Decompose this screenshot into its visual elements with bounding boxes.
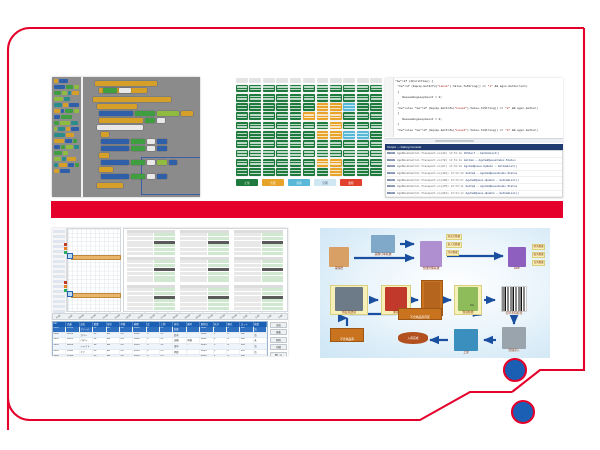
planning-data-value: [154, 288, 175, 291]
status-grid-cell[interactable]: [276, 78, 288, 83]
planning-data-value: [154, 244, 175, 247]
status-grid-cell[interactable]: [330, 131, 342, 139]
palette-chip: [54, 91, 61, 95]
palette-block[interactable]: [54, 145, 79, 149]
status-grid-cell[interactable]: [236, 150, 248, 158]
flow-node-complete[interactable]: 入库完成: [398, 332, 428, 344]
status-grid-cell[interactable]: [343, 78, 355, 83]
status-grid-cell[interactable]: [317, 78, 329, 83]
log-message: OnStart → GetCmdList(): [464, 152, 499, 155]
planning-data-value: [262, 276, 283, 279]
planning-row-header[interactable]: [53, 295, 65, 298]
status-grid-cell[interactable]: [357, 150, 369, 158]
status-grid-cell[interactable]: [290, 78, 302, 83]
flow-node-buyer[interactable]: 采购员: [326, 246, 352, 270]
planning-row-header[interactable]: [53, 305, 65, 308]
planning-data-key: [234, 237, 261, 240]
status-grid-cell[interactable]: [276, 94, 288, 102]
status-grid-cell[interactable]: [330, 150, 342, 158]
code-block[interactable]: [119, 88, 131, 93]
planning-board-panel[interactable]: 8:009:0010:0011:0012:0013:0014:0015:0016…: [52, 228, 288, 356]
status-grid-cell[interactable]: [249, 103, 261, 111]
log-row[interactable]: DEBUGAgvMoveControl.Transport.cs(78)13:5…: [386, 158, 562, 165]
status-grid-cell[interactable]: [330, 94, 342, 102]
code-block[interactable]: [169, 160, 177, 165]
code-block[interactable]: [99, 167, 113, 172]
code-block[interactable]: [147, 160, 155, 165]
status-grid-cell[interactable]: [276, 150, 288, 158]
code-editor[interactable]: "kw">if (bFirstTime) {"kw">if (Equip.Get…: [385, 78, 563, 137]
planning-data-grid[interactable]: [123, 228, 288, 312]
status-grid-cell[interactable]: [370, 103, 382, 111]
palette-block[interactable]: [54, 127, 79, 131]
status-grid-cell[interactable]: [263, 159, 275, 167]
palette-chip: [71, 121, 78, 125]
status-grid-cell[interactable]: [276, 159, 288, 167]
status-grid-cell[interactable]: [276, 122, 288, 130]
flow-node-shelving[interactable]: 上架: [450, 328, 482, 354]
gantt-status-dot: [64, 251, 67, 254]
flow-node-wms[interactable]: 仓储管理系统: [417, 240, 445, 270]
code-block[interactable]: [131, 174, 145, 179]
planning-data-row: [180, 299, 229, 302]
gantt-status-dot: [64, 285, 67, 288]
status-grid-cell[interactable]: [370, 131, 382, 139]
gantt-bar[interactable]: [71, 293, 121, 298]
status-grid-cell[interactable]: [249, 112, 261, 120]
code-block[interactable]: [157, 111, 179, 116]
code-block[interactable]: [99, 118, 143, 123]
palette-chip: [66, 85, 74, 89]
status-grid-cell[interactable]: [249, 78, 261, 83]
table-side-buttons[interactable]: 追加編集削除印刷閉じる: [269, 321, 288, 356]
planning-data-value: [262, 268, 283, 271]
table-cell: L04: [240, 344, 253, 349]
gantt-chart[interactable]: [67, 228, 121, 312]
planning-data-value: [208, 279, 229, 282]
log-row[interactable]: DEBUGAgvMoveControl.Transport.cs(233)13:…: [386, 197, 562, 198]
status-grid-cell[interactable]: [357, 112, 369, 120]
planning-data-value: [262, 292, 283, 295]
flow-node-inspection[interactable]: 到货检验: [454, 285, 482, 315]
planning-data-value: [208, 307, 229, 310]
table-cell: P2: [160, 338, 173, 343]
status-grid-cell[interactable]: [330, 78, 342, 83]
status-grid-cell[interactable]: [370, 94, 382, 102]
status-grid-cell[interactable]: [317, 112, 329, 120]
palette-block[interactable]: [54, 91, 79, 95]
status-grid-cell[interactable]: [357, 94, 369, 102]
code-block[interactable]: [99, 153, 109, 158]
status-grid-cell[interactable]: [249, 94, 261, 102]
code-block[interactable]: [93, 97, 171, 102]
status-grid-cell[interactable]: [370, 140, 382, 148]
status-grid-cell[interactable]: [343, 122, 355, 130]
status-grid-cell[interactable]: [357, 122, 369, 130]
code-block[interactable]: [97, 183, 123, 188]
palette-block[interactable]: [54, 163, 79, 167]
axis-tick: 21:00: [205, 312, 216, 321]
status-grid-cell[interactable]: [276, 103, 288, 111]
palette-chip: [74, 145, 79, 149]
code-block[interactable]: [157, 160, 167, 165]
status-grid-cell[interactable]: [303, 112, 315, 120]
status-grid-cell[interactable]: [236, 131, 248, 139]
flow-node-label: 打印条码标签: [506, 312, 523, 315]
status-grid-cell[interactable]: [317, 131, 329, 139]
blocks-canvas[interactable]: [83, 77, 200, 197]
planning-data-value: [262, 241, 283, 244]
log-level: DEBUG: [387, 179, 395, 182]
gantt-bar[interactable]: [71, 255, 121, 260]
status-grid-cell[interactable]: [317, 150, 329, 158]
table-action-button[interactable]: 閉じる: [270, 352, 287, 356]
code-block[interactable]: [101, 139, 129, 144]
person-icon: [329, 247, 349, 267]
order-table[interactable]: No品番品名数量単位状態納期戻工程担当備考更新日区分優先ロット検査 0001A-…: [52, 321, 268, 356]
status-grid-cell[interactable]: [370, 122, 382, 130]
status-grid-cell[interactable]: [290, 85, 302, 93]
table-cell: 0: [147, 344, 160, 349]
status-grid-cell[interactable]: [343, 103, 355, 111]
status-grid-cell[interactable]: [303, 85, 315, 93]
status-grid-cell[interactable]: [236, 168, 248, 176]
status-grid-cell[interactable]: [303, 103, 315, 111]
table-action-button[interactable]: 編集: [270, 329, 287, 335]
planning-data-value: [208, 268, 229, 271]
planning-data-value: [208, 248, 229, 251]
status-grid-cell[interactable]: [263, 78, 275, 83]
table-cell: B: [227, 338, 240, 343]
code-block[interactable]: [99, 111, 133, 116]
table-cell: 2: [214, 355, 227, 356]
status-grid-cell[interactable]: [357, 140, 369, 148]
code-block[interactable]: [101, 146, 129, 151]
status-grid-cell[interactable]: [317, 94, 329, 102]
status-grid-cell[interactable]: [357, 168, 369, 176]
planning-data-key: [234, 292, 261, 295]
order-table-body[interactable]: 0001A-101フレーム50EAOK10/010P1佐藤-10/011AL01…: [53, 327, 267, 356]
planning-row-headers[interactable]: [52, 228, 67, 312]
table-action-button[interactable]: 削除: [270, 337, 287, 343]
code-block[interactable]: [157, 174, 167, 179]
log-row[interactable]: DEBUGAgvMoveControl.Transport.cs(87)13:5…: [386, 164, 562, 171]
status-grid-cell[interactable]: [343, 168, 355, 176]
log-row[interactable]: DEBUGAgvMoveControl.Transport.cs(121)13:…: [386, 171, 562, 178]
axis-tick: 9:00: [65, 312, 76, 321]
table-cell: 田中: [173, 344, 186, 349]
code-block[interactable]: [157, 146, 167, 151]
planning-row-header[interactable]: [53, 260, 65, 263]
planning-data-row: [180, 241, 229, 244]
code-line: "kw">else "kw">if (Equip.GetInfo("Lane3"…: [397, 130, 538, 133]
status-grid-cell[interactable]: [249, 140, 261, 148]
code-block[interactable]: [101, 132, 109, 137]
table-row[interactable]: 0006C-302ベアリング45EAOK10/050P3渡辺-10/052CL0…: [53, 355, 267, 356]
status-grid-cell[interactable]: [370, 85, 382, 93]
flow-node-scan-entry[interactable]: 扫描录入: [498, 326, 530, 352]
status-grid-cell[interactable]: [263, 112, 275, 120]
table-cell: EA: [107, 338, 120, 343]
status-grid-cell[interactable]: [263, 103, 275, 111]
status-grid-cell[interactable]: [263, 150, 275, 158]
status-grid-cell[interactable]: [290, 103, 302, 111]
gantt-milestone-marker[interactable]: [67, 253, 73, 259]
planning-data-row: [234, 252, 283, 255]
gantt-milestone-marker[interactable]: [67, 291, 73, 297]
planning-data-row: [234, 303, 283, 306]
status-grid-cell[interactable]: [249, 159, 261, 167]
status-grid-cell[interactable]: [343, 150, 355, 158]
planning-data-key: [180, 233, 207, 236]
status-grid-cell[interactable]: [317, 159, 329, 167]
status-grid-cell[interactable]: [290, 159, 302, 167]
table-cell: B-202: [66, 344, 79, 349]
status-grid-cell[interactable]: [303, 94, 315, 102]
status-grid-cell[interactable]: [330, 159, 342, 167]
status-grid-cells[interactable]: [236, 78, 382, 176]
code-block[interactable]: [135, 111, 155, 116]
table-action-button[interactable]: 追加: [270, 322, 287, 328]
status-grid-cell[interactable]: [236, 85, 248, 93]
status-grid-cell[interactable]: [290, 112, 302, 120]
code-block[interactable]: [131, 146, 145, 151]
status-grid-cell[interactable]: [290, 122, 302, 130]
status-grid-cell[interactable]: [236, 103, 248, 111]
palette-block[interactable]: [54, 85, 79, 89]
status-grid-cell[interactable]: [303, 131, 315, 139]
red-divider-bar: [51, 201, 563, 218]
status-grid-cell[interactable]: [290, 94, 302, 102]
status-grid-cell[interactable]: [263, 122, 275, 130]
code-block[interactable]: [101, 160, 129, 165]
palette-chip: [54, 85, 65, 89]
planning-data-value: [154, 233, 175, 236]
planning-data-key: [127, 303, 154, 306]
planning-row-header[interactable]: [53, 235, 65, 238]
planning-row-header[interactable]: [53, 270, 65, 273]
planning-data-key: [180, 296, 207, 299]
status-grid-cell[interactable]: [263, 85, 275, 93]
status-grid-cell[interactable]: [330, 168, 342, 176]
planning-data-key: [127, 307, 154, 310]
status-grid-cell[interactable]: [236, 112, 248, 120]
code-block[interactable]: [145, 118, 155, 123]
code-block[interactable]: [181, 111, 193, 116]
status-grid-cell[interactable]: [303, 122, 315, 130]
code-block[interactable]: [97, 125, 143, 130]
planning-data-value: [154, 296, 175, 299]
code-block[interactable]: [95, 81, 157, 86]
palette-block[interactable]: [54, 151, 79, 155]
flow-node-supplier-truck[interactable]: 供应商送货: [330, 285, 368, 315]
status-grid-cell[interactable]: [370, 168, 382, 176]
status-grid-cell[interactable]: [330, 112, 342, 120]
status-grid-cell[interactable]: [343, 94, 355, 102]
status-grid-cell[interactable]: [357, 131, 369, 139]
palette-block[interactable]: [54, 169, 79, 173]
status-grid-cell[interactable]: [357, 85, 369, 93]
code-block[interactable]: [157, 139, 167, 144]
log-row[interactable]: DEBUGAgvMoveControl.Transport.cs(175)13:…: [386, 184, 562, 191]
scrollbar-thumb[interactable]: [435, 140, 474, 143]
status-grid-cell[interactable]: [290, 140, 302, 148]
status-grid-cell[interactable]: [303, 78, 315, 83]
planning-row-header[interactable]: [53, 255, 65, 258]
status-grid-cell[interactable]: [357, 78, 369, 83]
palette-block[interactable]: [54, 103, 79, 107]
planning-data-value: [208, 303, 229, 306]
flow-node-order-system[interactable]: 采购订单系统: [368, 234, 398, 256]
status-grid-cell[interactable]: [370, 159, 382, 167]
palette-block[interactable]: [54, 79, 79, 83]
log-row[interactable]: DEBUGAgvMoveControl.Transport.cs(212)13:…: [386, 191, 562, 198]
flow-node-reject-store[interactable]: 不合格品库: [330, 328, 364, 342]
status-grid-cell[interactable]: [357, 103, 369, 111]
status-grid-cell[interactable]: [249, 85, 261, 93]
palette-block[interactable]: [54, 109, 79, 113]
palette-block[interactable]: [54, 115, 79, 119]
code-block[interactable]: [101, 174, 129, 179]
status-grid-cell[interactable]: [263, 94, 275, 102]
planning-data-value: [262, 244, 283, 247]
code-block[interactable]: [147, 174, 155, 179]
palette-block[interactable]: [54, 97, 79, 101]
status-grid-cell[interactable]: [317, 122, 329, 130]
status-grid-cell[interactable]: [317, 168, 329, 176]
status-grid-cell[interactable]: [276, 140, 288, 148]
status-grid-cell[interactable]: [303, 168, 315, 176]
palette-block[interactable]: [54, 139, 79, 143]
status-grid-cell[interactable]: [317, 140, 329, 148]
planning-data-key: [234, 252, 261, 255]
status-grid-cell[interactable]: [303, 150, 315, 158]
planning-data-key: [127, 252, 154, 255]
table-cell: 20: [93, 344, 106, 349]
planning-data-row: [234, 299, 283, 302]
code-block[interactable]: [131, 139, 145, 144]
flow-node-reject-area[interactable]: 不合格品暂存区: [398, 308, 442, 320]
status-grid-cell[interactable]: [236, 78, 248, 83]
status-grid-cell[interactable]: [343, 159, 355, 167]
status-grid-cell[interactable]: [317, 85, 329, 93]
palette-chip: [58, 127, 65, 131]
planning-data-key: [180, 288, 207, 291]
table-cell: 80: [93, 338, 106, 343]
palette-block[interactable]: [54, 157, 79, 161]
table-cell: 0001: [53, 327, 66, 332]
status-grid-cell[interactable]: [370, 78, 382, 83]
code-block[interactable]: [97, 104, 137, 109]
code-block[interactable]: [131, 160, 145, 165]
palette-block[interactable]: [54, 133, 79, 137]
status-grid-cell[interactable]: [276, 85, 288, 93]
status-grid-cell[interactable]: [290, 168, 302, 176]
code-block[interactable]: [147, 146, 155, 151]
flowchart-panel[interactable]: 供应商送货卸货收货暂存区到货检验打印条码标签扫描录入上架入库完成不合格品暂存区不…: [320, 228, 550, 358]
code-console-panel[interactable]: "kw">if (bFirstTime) {"kw">if (Equip.Get…: [385, 78, 563, 198]
status-grid-cell[interactable]: [330, 122, 342, 130]
planning-row-header[interactable]: [53, 275, 65, 278]
planning-row-header[interactable]: [53, 300, 65, 303]
status-grid-cell[interactable]: [357, 159, 369, 167]
table-cell: 未: [254, 338, 267, 343]
table-cell: -: [187, 355, 200, 356]
status-grid-cell[interactable]: [249, 131, 261, 139]
planning-data-row: [234, 260, 283, 263]
planning-data-key: [127, 276, 154, 279]
planning-data-column: [179, 229, 230, 312]
status-grid-cell[interactable]: [330, 140, 342, 148]
code-block[interactable]: [157, 118, 165, 123]
planning-data-group: [127, 257, 176, 282]
status-grid-cell[interactable]: [290, 150, 302, 158]
planning-data-key: [127, 296, 154, 299]
planning-data-value: [208, 276, 229, 279]
log-console-body[interactable]: DEBUGAgvMoveControl.Transport.cs(42)13:5…: [385, 150, 563, 198]
status-grid-cell[interactable]: [343, 140, 355, 148]
status-grid-panel[interactable]: 正常告警禁用空闲故障: [236, 78, 382, 198]
blocks-palette[interactable]: [52, 77, 81, 197]
code-block[interactable]: [103, 88, 117, 93]
status-grid-cell[interactable]: [290, 131, 302, 139]
log-row[interactable]: DEBUGAgvMoveControl.Transport.cs(146)13:…: [386, 177, 562, 184]
table-cell: 高橋: [173, 338, 186, 343]
planning-data-value: [208, 288, 229, 291]
log-console-title: Output — Debug Console: [387, 145, 421, 149]
palette-block[interactable]: [54, 121, 79, 125]
status-grid-cell[interactable]: [343, 131, 355, 139]
planning-data-value: [154, 248, 175, 251]
status-grid-cell[interactable]: [317, 103, 329, 111]
status-grid-cell[interactable]: [343, 112, 355, 120]
status-grid-cell[interactable]: [330, 85, 342, 93]
status-grid-cell[interactable]: [276, 112, 288, 120]
log-row[interactable]: DEBUGAgvMoveControl.Transport.cs(42)13:5…: [386, 151, 562, 158]
code-line: "kw">if (Equip.GetInfo("Lane1").Value.To…: [397, 86, 527, 89]
flow-node-erp[interactable]: ERP: [506, 246, 528, 270]
status-grid-cell[interactable]: [343, 85, 355, 93]
status-grid-cell[interactable]: [263, 140, 275, 148]
status-grid-cell[interactable]: [303, 159, 315, 167]
status-grid-cell[interactable]: [263, 131, 275, 139]
table-cell: P3: [160, 350, 173, 355]
status-grid-cell[interactable]: [276, 168, 288, 176]
status-grid-cell[interactable]: [249, 150, 261, 158]
status-grid-cell[interactable]: [330, 103, 342, 111]
status-grid-cell[interactable]: [263, 168, 275, 176]
status-grid-cell[interactable]: [236, 122, 248, 130]
axis-tick: 11:00: [88, 312, 99, 321]
log-message: AgvCmdQueue.Update → GetCmdList(): [466, 179, 519, 182]
status-grid-cell[interactable]: [236, 94, 248, 102]
flow-node-barcode-label[interactable]: 打印条码标签: [498, 285, 530, 315]
status-grid-cell[interactable]: [370, 112, 382, 120]
planning-row-header[interactable]: [53, 230, 65, 233]
status-grid-cell[interactable]: [236, 159, 248, 167]
status-grid-cell[interactable]: [276, 131, 288, 139]
status-grid-cell[interactable]: [249, 168, 261, 176]
blocks-editor-panel[interactable]: [52, 77, 200, 197]
status-grid-cell[interactable]: [249, 122, 261, 130]
code-horizontal-scrollbar[interactable]: [385, 138, 563, 143]
code-block[interactable]: [147, 139, 155, 144]
table-action-button[interactable]: 印刷: [270, 344, 287, 350]
planning-row-header[interactable]: [53, 265, 65, 268]
status-grid-cell[interactable]: [236, 140, 248, 148]
status-grid-cell[interactable]: [303, 140, 315, 148]
status-grid-cell[interactable]: [370, 150, 382, 158]
